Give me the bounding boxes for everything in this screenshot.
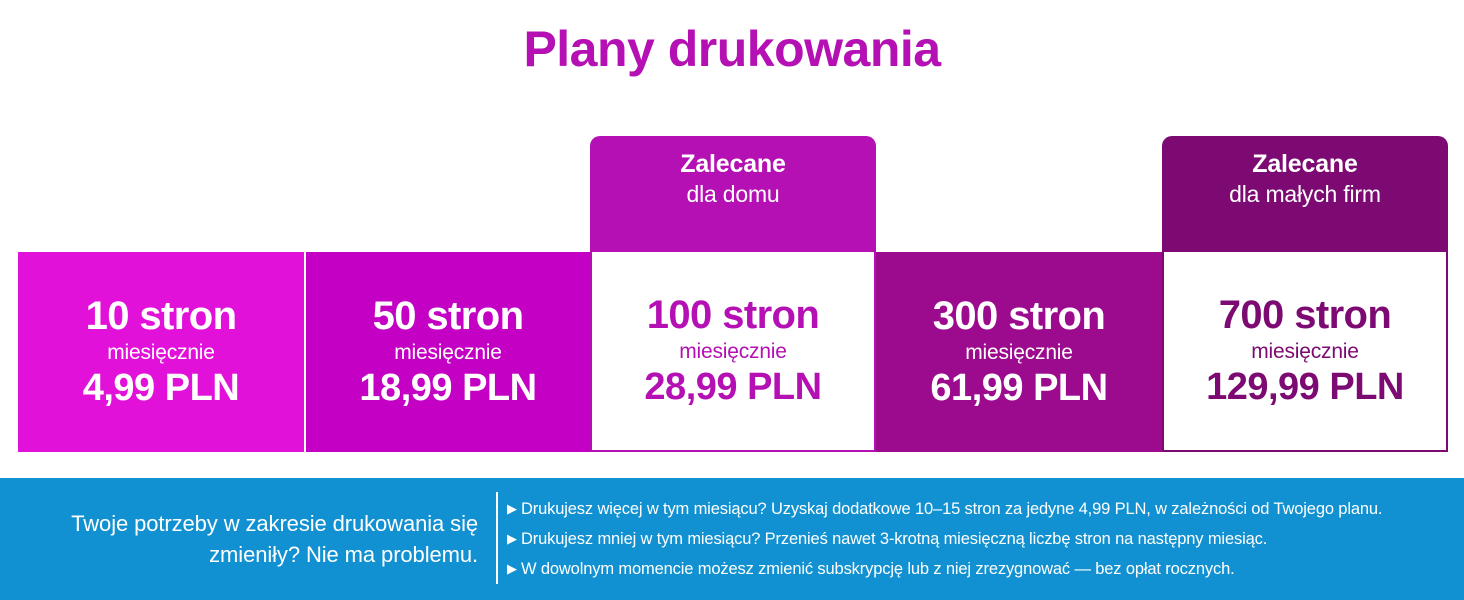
footer-headline: Twoje potrzeby w zakresie drukowania się… — [28, 508, 478, 570]
plan-pages: 300 stron — [933, 295, 1105, 337]
badge-title: Zalecane — [590, 148, 876, 180]
plan-body: 700 stron miesięcznie 129,99 PLN — [1162, 252, 1448, 452]
bullet-text: Drukujesz mniej w tym miesiącu? Przenieś… — [521, 528, 1267, 550]
badge-title: Zalecane — [1162, 148, 1448, 180]
plan-card-10-stron[interactable]: 10 stron miesięcznie 4,99 PLN — [18, 136, 304, 452]
triangle-right-icon: ▶ — [507, 529, 521, 549]
plan-price: 61,99 PLN — [930, 369, 1107, 409]
bullet-text: Drukujesz więcej w tym miesiącu? Uzyskaj… — [521, 498, 1382, 520]
recommended-badge-home: Zalecane dla domu — [590, 136, 876, 252]
plan-body: 50 stron miesięcznie 18,99 PLN — [306, 252, 590, 452]
footer-bullet-list: ▶ Drukujesz więcej w tym miesiącu? Uzysk… — [498, 478, 1464, 600]
plan-card-100-stron[interactable]: Zalecane dla domu 100 stron miesięcznie … — [590, 136, 876, 452]
plan-period: miesięcznie — [679, 336, 787, 368]
badge-subtitle: dla małych firm — [1162, 180, 1448, 210]
plan-price: 129,99 PLN — [1206, 368, 1404, 408]
plan-pages: 50 stron — [373, 295, 524, 337]
footer-headline-area: Twoje potrzeby w zakresie drukowania się… — [0, 478, 496, 600]
triangle-right-icon: ▶ — [507, 499, 521, 519]
triangle-right-icon: ▶ — [507, 559, 521, 579]
list-item: ▶ Drukujesz mniej w tym miesiącu? Przeni… — [507, 524, 1464, 554]
plan-body: 10 stron miesięcznie 4,99 PLN — [18, 252, 304, 452]
plan-period: miesięcznie — [965, 337, 1073, 369]
bullet-text: W dowolnym momencie możesz zmienić subsk… — [521, 558, 1235, 580]
plan-pages: 10 stron — [86, 295, 237, 337]
plan-card-300-stron[interactable]: 300 stron miesięcznie 61,99 PLN — [876, 136, 1162, 452]
plan-price: 4,99 PLN — [83, 369, 240, 409]
plan-price: 18,99 PLN — [359, 369, 536, 409]
plan-card-700-stron[interactable]: Zalecane dla małych firm 700 stron miesi… — [1162, 136, 1448, 452]
plan-price: 28,99 PLN — [644, 368, 821, 408]
plan-pages: 100 stron — [647, 294, 819, 336]
plan-pages: 700 stron — [1219, 294, 1391, 336]
plan-period: miesięcznie — [394, 337, 502, 369]
pricing-plans: 10 stron miesięcznie 4,99 PLN 50 stron m… — [18, 136, 1448, 452]
badge-subtitle: dla domu — [590, 180, 876, 210]
list-item: ▶ Drukujesz więcej w tym miesiącu? Uzysk… — [507, 494, 1464, 524]
plan-body: 300 stron miesięcznie 61,99 PLN — [876, 252, 1162, 452]
plan-body: 100 stron miesięcznie 28,99 PLN — [590, 252, 876, 452]
footer-banner: Twoje potrzeby w zakresie drukowania się… — [0, 478, 1464, 600]
plan-period: miesięcznie — [1251, 336, 1359, 368]
page-title: Plany drukowania — [0, 22, 1464, 77]
plan-card-50-stron[interactable]: 50 stron miesięcznie 18,99 PLN — [306, 136, 590, 452]
recommended-badge-business: Zalecane dla małych firm — [1162, 136, 1448, 252]
list-item: ▶ W dowolnym momencie możesz zmienić sub… — [507, 554, 1464, 584]
plan-period: miesięcznie — [107, 337, 215, 369]
